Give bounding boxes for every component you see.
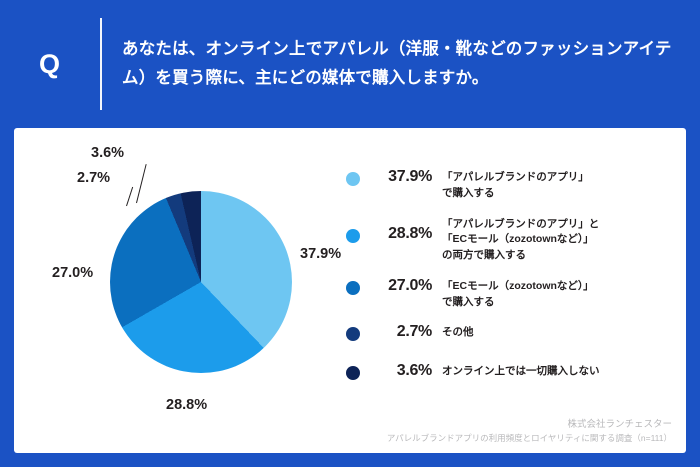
- legend-dot-1: [346, 172, 360, 186]
- credit-survey: アパレルブランドアプリの利用頻度とロイヤリティに関する調査（n=111）: [387, 432, 672, 445]
- legend-label-4-line-1: その他: [442, 325, 474, 341]
- source-credit: 株式会社ランチェスター アパレルブランドアプリの利用頻度とロイヤリティに関する調…: [387, 418, 672, 445]
- legend-percent-3: 27.0%: [360, 277, 442, 295]
- legend-label-2-line-1: 「アパレルブランドのアプリ」と: [442, 217, 599, 233]
- legend-item-5: 3.6% オンライン上では一切購入しない: [346, 362, 676, 388]
- legend-label-1-line-2: で購入する: [442, 186, 589, 202]
- pie-label-2: 28.8%: [166, 397, 207, 413]
- pie-chart: [110, 191, 292, 373]
- legend-percent-1: 37.9%: [360, 168, 442, 186]
- pie-label-4: 2.7%: [77, 170, 110, 186]
- slide-root: Q あなたは、オンライン上でアパレル（洋服・靴などのファッションアイテム）を買う…: [0, 0, 700, 467]
- legend-item-2: 28.8% 「アパレルブランドのアプリ」と 「ECモール（zozotownなど）…: [346, 215, 676, 264]
- legend-label-3: 「ECモール（zozotownなど）」 で購入する: [442, 277, 594, 311]
- question-text: あなたは、オンライン上でアパレル（洋服・靴などのファッションアイテム）を買う際に…: [102, 35, 700, 93]
- legend-label-2: 「アパレルブランドのアプリ」と 「ECモール（zozotownなど）」 の両方で…: [442, 215, 599, 264]
- legend-label-3-line-1: 「ECモール（zozotownなど）」: [442, 279, 594, 295]
- legend-dot-2: [346, 229, 360, 243]
- question-mark-label: Q: [0, 49, 100, 80]
- legend-percent-4: 2.7%: [360, 323, 442, 341]
- pie-slices: [110, 191, 292, 373]
- pie-label-5: 3.6%: [91, 145, 124, 161]
- legend-percent-2: 28.8%: [360, 225, 442, 243]
- legend-label-4: その他: [442, 323, 474, 341]
- legend-dot-3: [346, 281, 360, 295]
- legend-dot-4: [346, 327, 360, 341]
- header-divider: [100, 18, 102, 110]
- legend-percent-5: 3.6%: [360, 362, 442, 380]
- legend-label-3-line-2: で購入する: [442, 295, 594, 311]
- legend-label-2-line-3: の両方で購入する: [442, 248, 599, 264]
- pie-label-3: 27.0%: [52, 265, 93, 281]
- chart-card: 37.9% 28.8% 27.0% 2.7% 3.6% 37.9% 「アパレルブ…: [14, 128, 686, 453]
- credit-company: 株式会社ランチェスター: [387, 418, 672, 432]
- legend-item-3: 27.0% 「ECモール（zozotownなど）」 で購入する: [346, 277, 676, 311]
- legend-label-1: 「アパレルブランドのアプリ」 で購入する: [442, 168, 589, 202]
- question-header: Q あなたは、オンライン上でアパレル（洋服・靴などのファッションアイテム）を買う…: [0, 0, 700, 128]
- legend-label-2-line-2: 「ECモール（zozotownなど）」: [442, 232, 599, 248]
- legend-label-5: オンライン上では一切購入しない: [442, 362, 600, 380]
- legend-label-1-line-1: 「アパレルブランドのアプリ」: [442, 170, 589, 186]
- chart-legend: 37.9% 「アパレルブランドのアプリ」 で購入する 28.8% 「アパレルブラ…: [346, 168, 676, 401]
- legend-dot-5: [346, 366, 360, 380]
- legend-label-5-line-1: オンライン上では一切購入しない: [442, 364, 600, 380]
- legend-item-4: 2.7% その他: [346, 323, 676, 349]
- legend-item-1: 37.9% 「アパレルブランドのアプリ」 で購入する: [346, 168, 676, 202]
- pie-label-1: 37.9%: [300, 246, 341, 262]
